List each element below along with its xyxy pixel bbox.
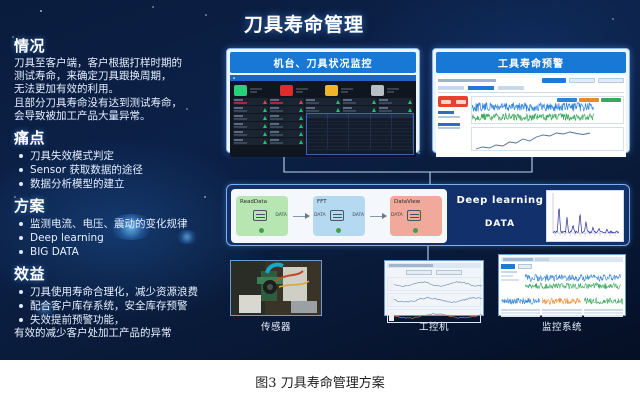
- machine-status-card[interactable]: [342, 106, 377, 113]
- machine-status-card[interactable]: [269, 130, 304, 137]
- panel-machine-monitor-title: 机台、刀具状况监控: [230, 52, 416, 73]
- kpi-value-1: [438, 111, 468, 118]
- status-dot-icon: [259, 228, 264, 233]
- chart-legend: [557, 98, 621, 102]
- machine-status-card[interactable]: [269, 98, 304, 105]
- dashboard-body: [438, 96, 624, 151]
- transform-icon: [330, 210, 344, 221]
- deep-learning-band: ReadData DATA FFT DATA DATA: [226, 184, 630, 246]
- monitor-table: [501, 309, 540, 317]
- status-swatch-gray: [371, 85, 384, 96]
- status-dot-icon: [336, 228, 341, 233]
- panel-tool-life-warning[interactable]: 工具寿命预警: [432, 48, 630, 153]
- table-row[interactable]: [307, 147, 413, 151]
- section-heading-solution: 方案: [14, 195, 219, 216]
- figure-caption: 图3 刀具寿命管理方案: [0, 372, 640, 391]
- pipeline-step-monitor[interactable]: 监控系统: [498, 254, 626, 333]
- monitor-side-labels: [501, 271, 523, 293]
- monitor-main-plot: [525, 271, 621, 293]
- dashboard-heading-bar: [438, 79, 496, 82]
- axis-label: [389, 280, 394, 289]
- machine-status-card[interactable]: [378, 98, 413, 105]
- ipc-trace-plot: [394, 310, 482, 322]
- status-swatch-red: [280, 85, 293, 96]
- ipc-trace-plot: [394, 278, 482, 290]
- deep-learning-subtitle: DATA: [455, 219, 545, 229]
- star-decor: [40, 10, 42, 12]
- situation-line-5: 会导致被加工产品大量异常。: [14, 110, 219, 123]
- ipc-screenshot: [384, 260, 484, 316]
- status-tile-meta: [296, 88, 308, 93]
- benefit-item: 失效提前预警功能，: [14, 313, 219, 327]
- table-body: [307, 118, 413, 150]
- status-tile-meta: [341, 88, 353, 93]
- status-tile-meta: [387, 88, 399, 93]
- dashboard-toolbar: [438, 77, 624, 83]
- secondary-action-button[interactable]: [569, 78, 595, 83]
- flow-node-fft-in-port: DATA: [314, 213, 326, 218]
- painpoint-item: 数据分析模型的建立: [14, 177, 219, 191]
- solution-item: 监测电流、电压、震动的变化规律: [14, 217, 219, 231]
- axis-label: [389, 312, 394, 321]
- monitor-table-row: [501, 309, 623, 317]
- monitor-main-row: [501, 271, 623, 293]
- ipc-trace-row: [387, 309, 481, 323]
- flow-connector-arrow: [370, 216, 386, 217]
- solution-item: Deep learning: [14, 231, 219, 245]
- figure-page: 情况 刀具至客户端，客户根据打样时期的 测试寿命，来确定刀具跟换周期， 无法更加…: [0, 0, 640, 409]
- panel-tool-life-warning-title: 工具寿命预警: [436, 52, 626, 73]
- legend-chip-blue: [557, 98, 577, 102]
- section-heading-situation: 情况: [14, 35, 219, 56]
- machine-status-card[interactable]: [378, 106, 413, 113]
- monitor-mini-chart-orange: [542, 295, 581, 307]
- machine-data-table[interactable]: [306, 113, 414, 155]
- trend-line-chart[interactable]: [471, 127, 624, 151]
- monitor-button-primary[interactable]: [501, 264, 515, 269]
- status-dot-icon: [413, 228, 418, 233]
- star-decor: [205, 14, 207, 16]
- tab-item[interactable]: [498, 86, 524, 90]
- section-heading-benefits: 效益: [14, 263, 219, 284]
- flow-node-dataview-in-port: DATA: [391, 213, 403, 218]
- flow-node-dataview[interactable]: DataView DATA: [390, 196, 442, 236]
- monitor-mini-chart-green: [584, 295, 623, 307]
- chart-stack: [471, 96, 624, 151]
- machine-monitor-dashboard[interactable]: ▪: [230, 75, 416, 157]
- dashboard-titlebar-label: ▪: [233, 76, 235, 80]
- monitor-window-titlebar: [501, 257, 623, 262]
- flow-node-readdata-out-port: DATA: [275, 213, 287, 218]
- machine-status-card[interactable]: [269, 106, 304, 113]
- monitor-table: [584, 309, 623, 317]
- ipc-button-row: [387, 270, 481, 275]
- tab-item-active[interactable]: [468, 86, 494, 90]
- legend-chip-orange: [579, 98, 599, 102]
- slide-title: 刀具寿命管理: [244, 10, 364, 37]
- machine-status-card[interactable]: [233, 114, 268, 121]
- flow-connector-arrow: [293, 216, 309, 217]
- benefit-item: 配合客户库存系统，安全库存预警: [14, 299, 219, 313]
- machine-status-card[interactable]: [269, 122, 304, 129]
- solution-item: BIG DATA: [14, 245, 219, 259]
- monitor-mini-chart-blue: [501, 295, 540, 307]
- status-swatch-orange: [325, 85, 338, 96]
- pipeline-step-sensor[interactable]: 传感器: [230, 260, 322, 333]
- axis-label: [389, 296, 394, 305]
- star-decor: [152, 6, 154, 8]
- chart-icon: [407, 210, 421, 221]
- slide-canvas: 情况 刀具至客户端，客户根据打样时期的 测试寿命，来确定刀具跟换周期， 无法更加…: [0, 0, 640, 360]
- machine-status-card[interactable]: [233, 138, 268, 145]
- panel-machine-monitor[interactable]: 机台、刀具状况监控 ▪: [226, 48, 420, 153]
- machine-status-card[interactable]: [269, 114, 304, 121]
- situation-line-4: 且部分刀具寿命没有达到测试寿命，: [14, 97, 219, 110]
- ipc-button[interactable]: [436, 270, 462, 275]
- machine-status-card[interactable]: [233, 130, 268, 137]
- monitor-toolbar: [501, 264, 623, 269]
- flow-node-fft[interactable]: FFT DATA DATA: [313, 196, 365, 236]
- machine-status-card[interactable]: [305, 98, 340, 105]
- status-tile-alarm[interactable]: [280, 85, 322, 96]
- kpi-value-2: [438, 123, 468, 130]
- monitor-button[interactable]: [518, 264, 532, 269]
- dashboard-tabs[interactable]: [438, 86, 624, 93]
- pipeline-step-ipc[interactable]: 工控机: [384, 260, 484, 333]
- sensor-photo: [230, 260, 322, 316]
- situation-line-1: 刀具至客户端，客户根据打样时期的: [14, 57, 219, 70]
- fft-spectrum-plot: [547, 191, 623, 241]
- status-swatch-green: [234, 85, 247, 96]
- deep-learning-title: Deep learning: [455, 195, 545, 206]
- status-tile-meta: [250, 88, 262, 93]
- fft-spectrum-card[interactable]: [546, 190, 624, 242]
- machine-status-card[interactable]: [305, 106, 340, 113]
- alert-kpi-card[interactable]: [438, 96, 468, 107]
- monitor-screenshot: [498, 254, 626, 316]
- painpoint-item: 刀具失效模式判定: [14, 149, 219, 163]
- kpi-sidebar: [438, 96, 468, 151]
- ipc-trace-row: [387, 293, 481, 307]
- flow-node-fft-out-port: DATA: [352, 213, 364, 218]
- trend-line-plot: [472, 128, 594, 151]
- machine-status-card[interactable]: [342, 98, 377, 105]
- status-tile-idle[interactable]: [325, 85, 367, 96]
- database-icon: [253, 210, 267, 221]
- machine-status-card[interactable]: [269, 138, 304, 145]
- tab-item[interactable]: [438, 86, 464, 90]
- situation-line-2: 测试寿命，来确定刀具跟换周期，: [14, 70, 219, 83]
- diagram-region: 刀具寿命管理 机台、刀具状况监控 ▪: [224, 4, 636, 356]
- tool-life-dashboard[interactable]: [436, 75, 626, 157]
- deep-learning-text: Deep learning DATA: [455, 195, 545, 229]
- benefit-item: 刀具使用寿命合理化，减少资源浪费: [14, 285, 219, 299]
- status-tile-offline[interactable]: [371, 85, 413, 96]
- flow-node-fft-label: FFT: [317, 199, 327, 205]
- benefit-tail-line: 有效的减少客户处加工产品的异常: [14, 327, 219, 341]
- painpoint-item: Sensor 获取数据的途径: [14, 163, 219, 177]
- flow-node-dataview-label: DataView: [394, 199, 420, 205]
- monitor-table: [542, 309, 581, 317]
- ipc-window-titlebar: [387, 263, 481, 268]
- monitor-mini-charts-row: [501, 295, 623, 307]
- machine-status-card[interactable]: [233, 106, 268, 113]
- primary-action-button[interactable]: [542, 78, 566, 83]
- ipc-button[interactable]: [406, 270, 432, 275]
- legend-chip-green: [601, 98, 621, 102]
- data-flow-card[interactable]: ReadData DATA FFT DATA DATA: [231, 189, 447, 243]
- status-tile-running[interactable]: [234, 85, 276, 96]
- ipc-trace-plot: [394, 294, 482, 306]
- machine-status-card[interactable]: [233, 122, 268, 129]
- flow-node-readdata[interactable]: ReadData DATA: [236, 196, 288, 236]
- vibration-signal-chart[interactable]: [471, 96, 624, 124]
- left-text-column: 情况 刀具至客户端，客户根据打样时期的 测试寿命，来确定刀具跟换周期， 无法更加…: [14, 34, 219, 341]
- section-heading-painpoints: 痛点: [14, 127, 219, 148]
- ipc-trace-row: [387, 277, 481, 291]
- pipeline-step-monitor-label: 监控系统: [498, 319, 626, 333]
- sensor-photo-art: [231, 261, 321, 315]
- situation-line-3: 无法更加有效的利用。: [14, 83, 219, 96]
- flow-node-readdata-label: ReadData: [240, 199, 267, 205]
- tertiary-action-button[interactable]: [598, 78, 624, 83]
- status-tile-row: [230, 81, 416, 98]
- machine-status-card[interactable]: [233, 98, 268, 105]
- pipeline-step-sensor-label: 传感器: [230, 319, 322, 333]
